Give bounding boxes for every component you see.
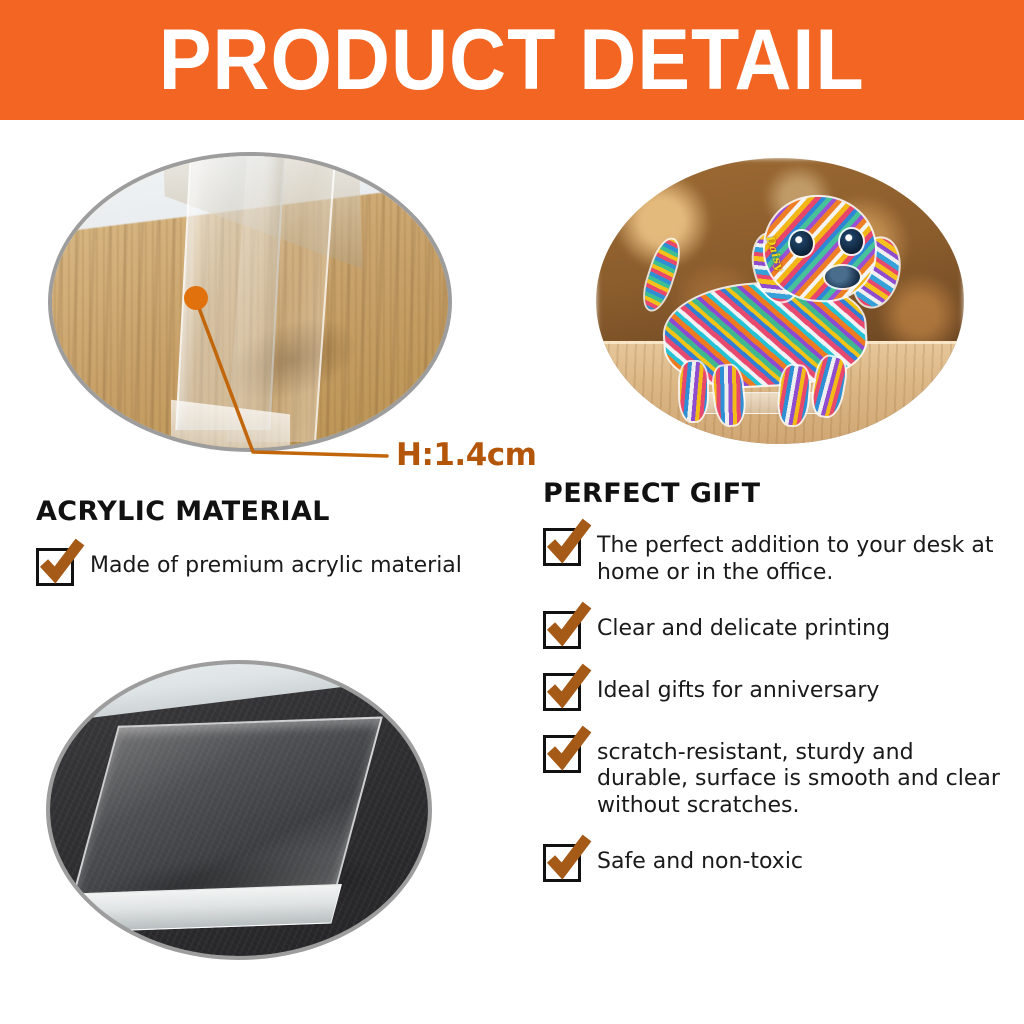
- list-item: The perfect addition to your desk at hom…: [543, 528, 1008, 587]
- slab-front-edge: [60, 884, 342, 933]
- list-item: Clear and delicate printing: [543, 611, 1008, 649]
- list-item-label: The perfect addition to your desk at hom…: [597, 528, 1008, 587]
- list-item: Made of premium acrylic material: [36, 548, 516, 586]
- slate-surface: [50, 664, 428, 956]
- checkmark-icon: [543, 735, 581, 773]
- header-banner: PRODUCT DETAIL: [0, 0, 1024, 120]
- photo-acrylic-slab: [46, 660, 432, 960]
- height-callout-label: H:1.4cm: [396, 437, 536, 473]
- wood-table-scene: [52, 156, 448, 448]
- slab-top-face: [73, 717, 383, 897]
- dachshund-standee: Daisy: [655, 192, 905, 421]
- checkmark-icon: [543, 528, 581, 566]
- slate-backdrop: [46, 660, 432, 725]
- list-item-label: Ideal gifts for anniversary: [597, 673, 879, 705]
- checkmark-icon: [543, 673, 581, 711]
- checklist-perfect-gift: The perfect addition to your desk at hom…: [543, 528, 1008, 900]
- dog-eye-left: [790, 231, 813, 256]
- page-title: PRODUCT DETAIL: [159, 17, 865, 103]
- photo-dog-standee: Daisy: [596, 158, 964, 444]
- acrylic-slab: [73, 717, 383, 897]
- list-item-label: Clear and delicate printing: [597, 611, 890, 643]
- dog-front-leg-left: [680, 362, 708, 421]
- dog-eye-right: [840, 229, 863, 254]
- photo-acrylic-edge: [48, 152, 452, 452]
- product-detail-page: PRODUCT DETAIL H:1.4cm: [0, 0, 1024, 1024]
- list-item-label: scratch-resistant, sturdy and durable, s…: [597, 735, 1008, 820]
- list-item: scratch-resistant, sturdy and durable, s…: [543, 735, 1008, 820]
- list-item-label: Made of premium acrylic material: [90, 548, 462, 580]
- callout-dot-icon: [184, 286, 208, 310]
- checklist-acrylic-material: Made of premium acrylic material: [36, 548, 516, 604]
- dog-back-leg-left: [777, 365, 810, 427]
- checkmark-icon: [36, 548, 74, 586]
- list-item-label: Safe and non-toxic: [597, 844, 803, 876]
- heading-acrylic-material: ACRYLIC MATERIAL: [36, 496, 330, 527]
- list-item: Ideal gifts for anniversary: [543, 673, 1008, 711]
- list-item: Safe and non-toxic: [543, 844, 1008, 882]
- checkmark-icon: [543, 844, 581, 882]
- heading-perfect-gift: PERFECT GIFT: [543, 478, 760, 509]
- checkmark-icon: [543, 611, 581, 649]
